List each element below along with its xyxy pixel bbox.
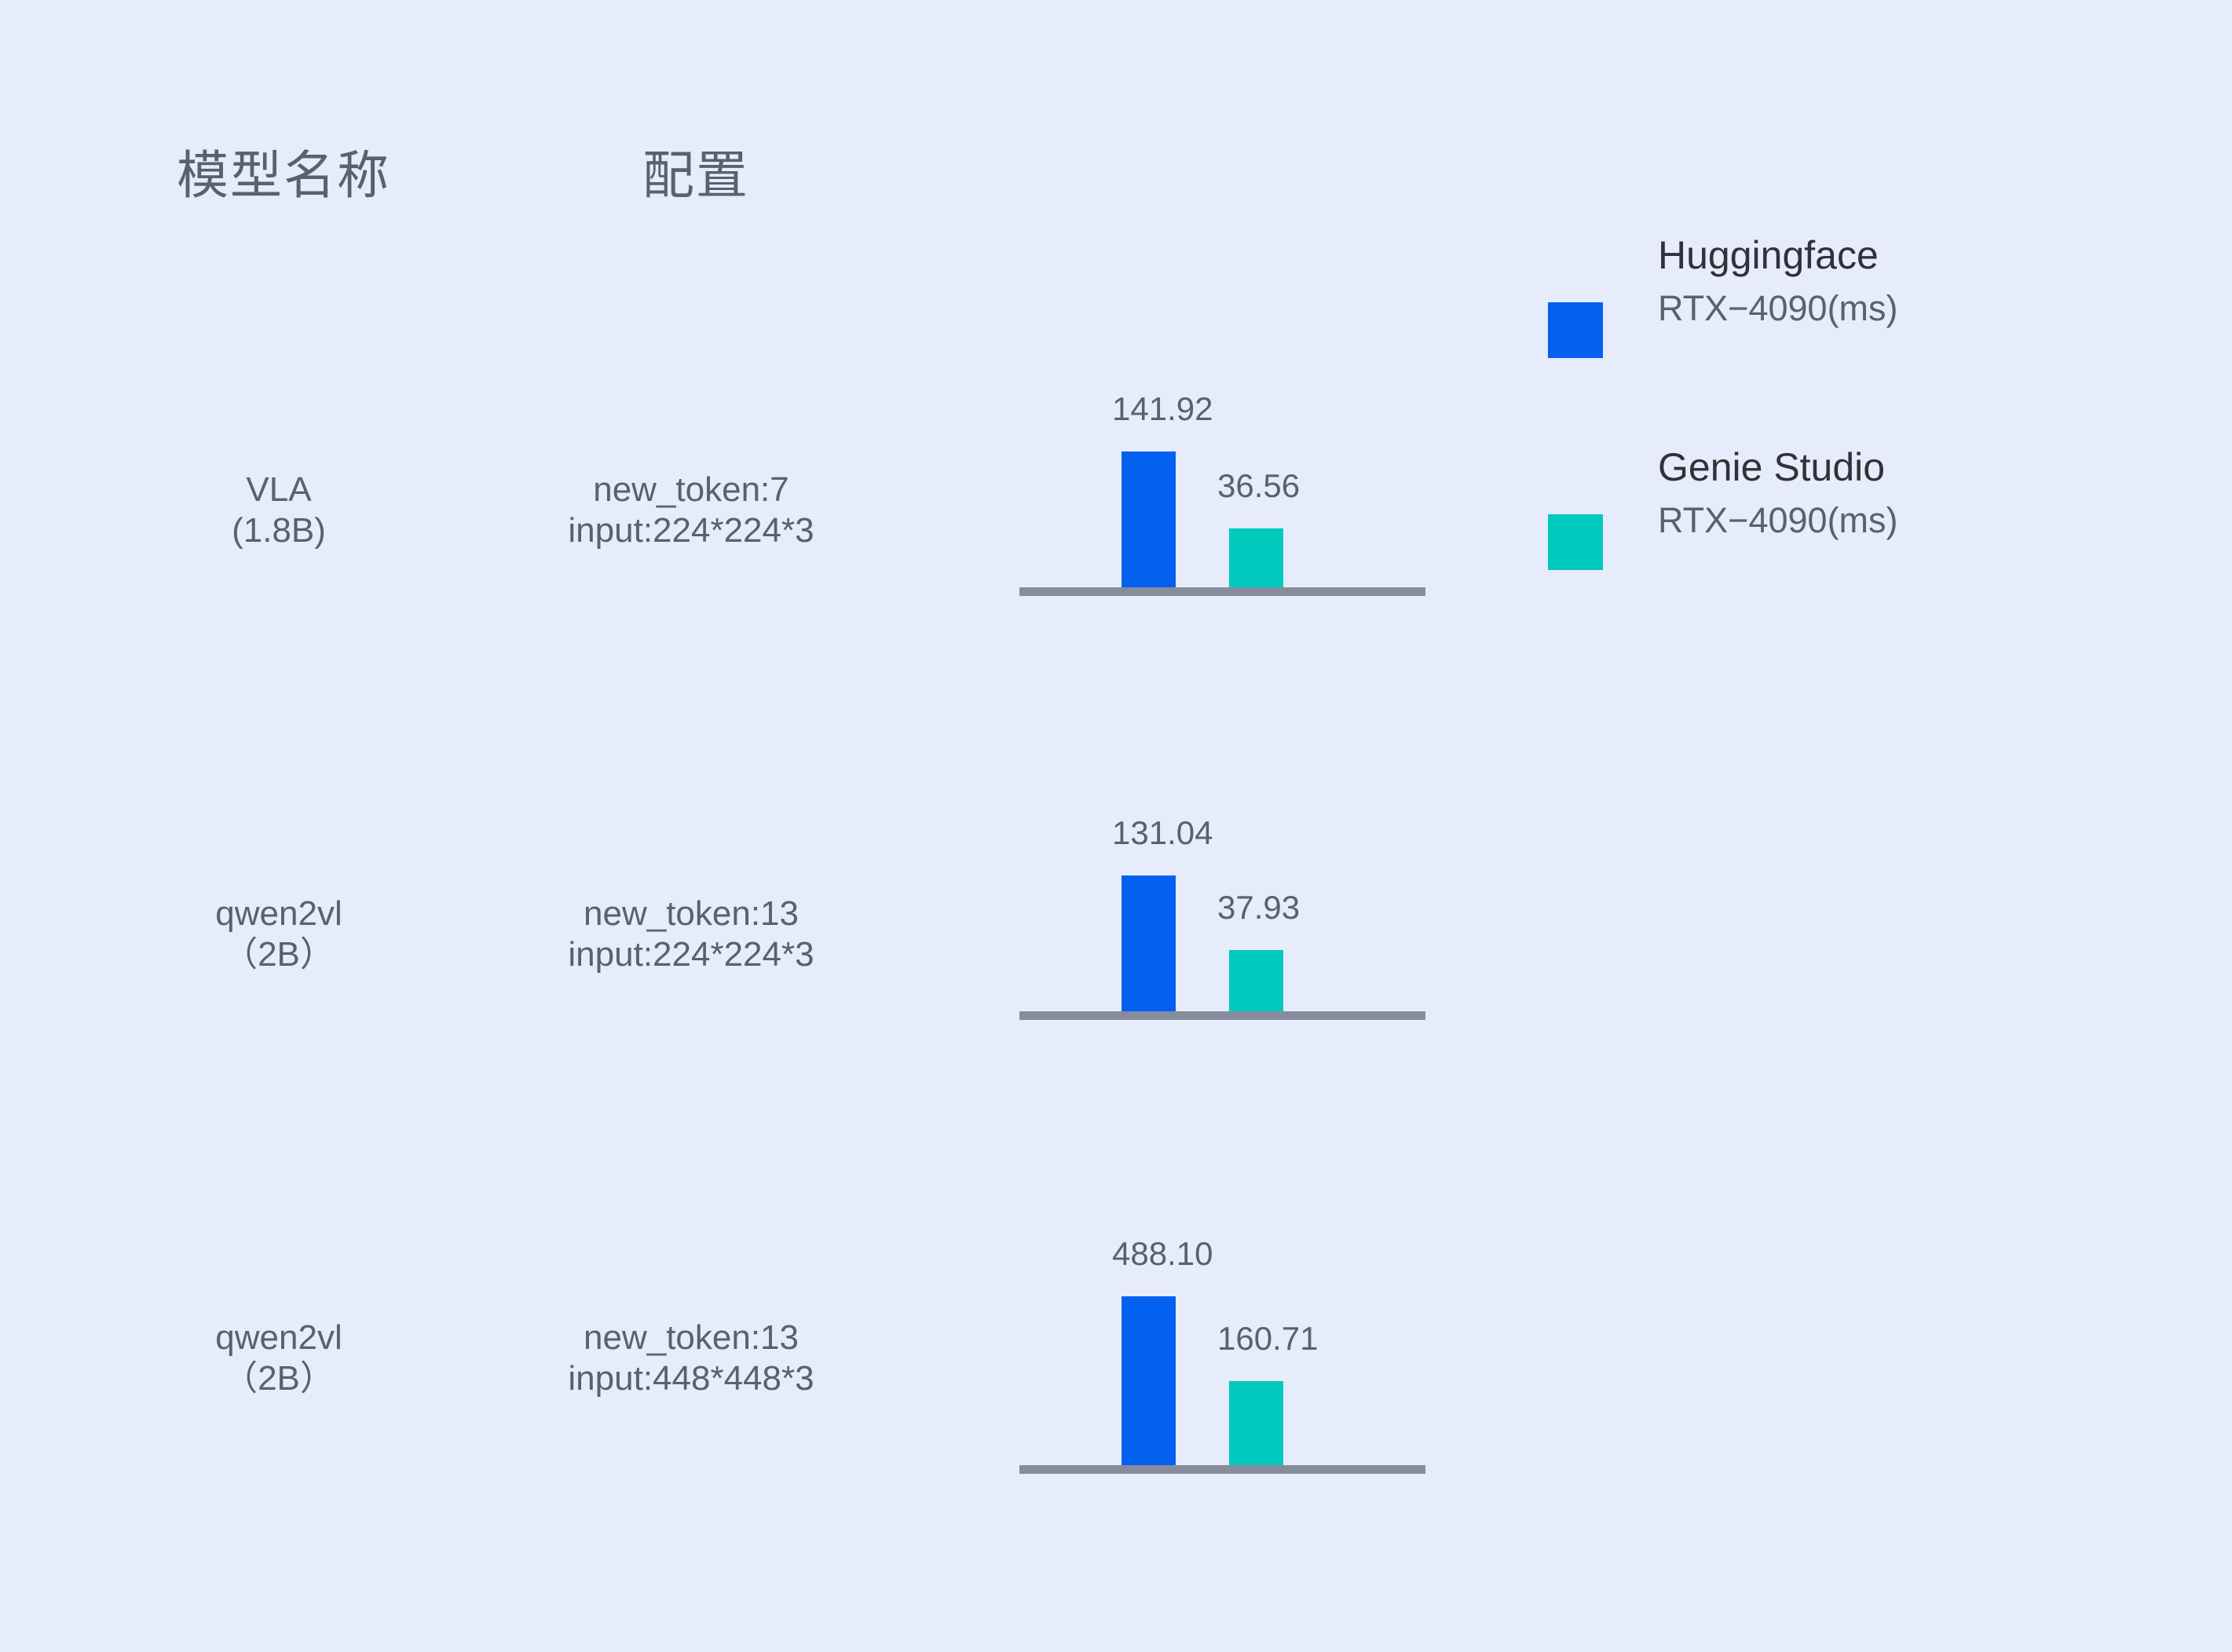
column-header-config: 配置 — [642, 133, 749, 209]
bar-value-label-genie: 37.93 — [1217, 889, 1300, 927]
legend-label-sub: RTX−4090(ms) — [1658, 503, 1898, 538]
legend-text-block: Huggingface RTX−4090(ms) — [1658, 236, 1898, 326]
bar-huggingface[interactable] — [1121, 875, 1176, 1011]
legend-label-name: Huggingface — [1658, 236, 1898, 275]
bar-value-label-huggingface: 488.10 — [1112, 1235, 1213, 1273]
bar-value-label-genie: 160.71 — [1217, 1320, 1318, 1358]
row-model-label: VLA (1.8B) — [149, 470, 408, 551]
baseline-axis — [1019, 587, 1425, 596]
row-model-label: qwen2vl （2B） — [149, 894, 408, 975]
blue-square-swatch-icon — [1548, 302, 1603, 358]
bar-genie-studio[interactable] — [1229, 528, 1283, 587]
chart-canvas: 模型名称 配置 VLA (1.8B) new_token:7 input:224… — [0, 0, 2232, 1652]
baseline-axis — [1019, 1465, 1425, 1474]
bar-panel: 488.10 160.71 — [1019, 1084, 1425, 1512]
bar-panel: 141.92 36.56 — [1019, 236, 1425, 634]
bar-genie-studio[interactable] — [1229, 950, 1283, 1011]
row-config-label: new_token:13 input:224*224*3 — [479, 894, 903, 975]
bar-value-label-genie: 36.56 — [1217, 467, 1300, 505]
row-config-label: new_token:13 input:448*448*3 — [479, 1318, 903, 1399]
baseline-axis — [1019, 1011, 1425, 1020]
column-header-model-name: 模型名称 — [177, 133, 390, 209]
bar-genie-studio[interactable] — [1229, 1381, 1283, 1465]
legend-label-sub: RTX−4090(ms) — [1658, 291, 1898, 326]
bar-panel: 131.04 37.93 — [1019, 660, 1425, 1058]
bar-value-label-huggingface: 131.04 — [1112, 814, 1213, 852]
legend-text-block: Genie Studio RTX−4090(ms) — [1658, 448, 1898, 538]
bar-value-label-huggingface: 141.92 — [1112, 390, 1213, 428]
teal-square-swatch-icon — [1548, 514, 1603, 570]
row-model-label: qwen2vl （2B） — [149, 1318, 408, 1399]
legend-label-name: Genie Studio — [1658, 448, 1898, 487]
bar-huggingface[interactable] — [1121, 1296, 1176, 1471]
bar-huggingface[interactable] — [1121, 451, 1176, 587]
row-config-label: new_token:7 input:224*224*3 — [479, 470, 903, 551]
